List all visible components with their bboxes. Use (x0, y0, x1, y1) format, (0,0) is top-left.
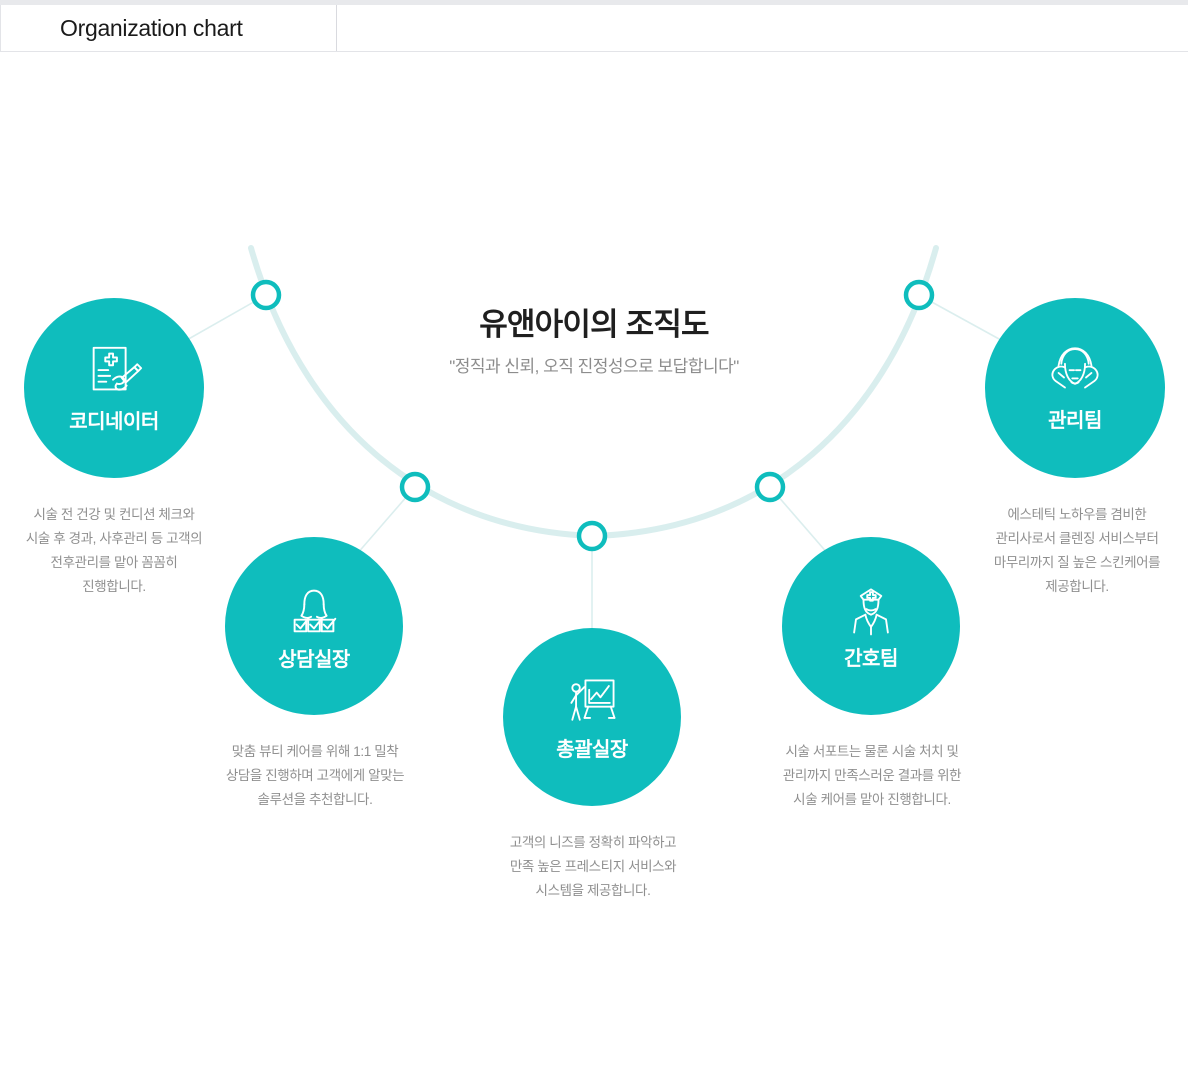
node-general-manager-label: 총괄실장 (556, 737, 628, 763)
clipboard-pen-icon (83, 341, 145, 403)
node-consulting-manager-description: 맞춤 뷰티 케어를 위해 1:1 밀착 상담을 진행하며 고객에게 알맞는 솔루… (200, 740, 430, 812)
person-checklist-icon (283, 579, 345, 641)
ring-care-team (906, 282, 932, 308)
spoke-care-team (919, 295, 1010, 345)
node-nursing-team-label: 간호팀 (844, 646, 898, 672)
main-arc (251, 248, 936, 536)
node-coordinator-circle[interactable]: 코디네이터 (24, 298, 204, 478)
presenter-chart-icon (562, 671, 622, 731)
node-care-team-label: 관리팀 (1048, 408, 1102, 434)
arc-rings (253, 282, 932, 549)
node-coordinator-description: 시술 전 건강 및 컨디션 체크와 시술 후 경과, 사후관리 등 고객의 전후… (0, 503, 228, 599)
node-nursing-team-description: 시술 서포트는 물론 시술 처치 및 관리까지 만족스러운 결과를 위한 시술 … (757, 740, 987, 812)
nurse-icon (841, 580, 901, 640)
node-care-team-description: 에스테틱 노하우를 겸비한 관리사로서 클렌징 서비스부터 마무리까지 질 높은… (963, 503, 1188, 599)
ring-coordinator (253, 282, 279, 308)
ring-general-manager (579, 523, 605, 549)
ring-consulting-manager (402, 474, 428, 500)
node-general-manager-description: 고객의 니즈를 정확히 파악하고 만족 높은 프레스티지 서비스와 시스템을 제… (478, 831, 708, 903)
node-general-manager-circle[interactable]: 총괄실장 (503, 628, 681, 806)
node-consulting-manager-label: 상담실장 (278, 647, 350, 673)
node-care-team-circle[interactable]: 관리팀 (985, 298, 1165, 478)
node-nursing-team-circle[interactable]: 간호팀 (782, 537, 960, 715)
facial-care-hands-icon (1043, 342, 1107, 402)
organization-chart-page: Organization chart 유앤아이의 조직도 "정직과 신뢰, 오직… (0, 0, 1188, 1081)
ring-nursing-team (757, 474, 783, 500)
node-consulting-manager-circle[interactable]: 상담실장 (225, 537, 403, 715)
node-coordinator-label: 코디네이터 (69, 409, 159, 435)
